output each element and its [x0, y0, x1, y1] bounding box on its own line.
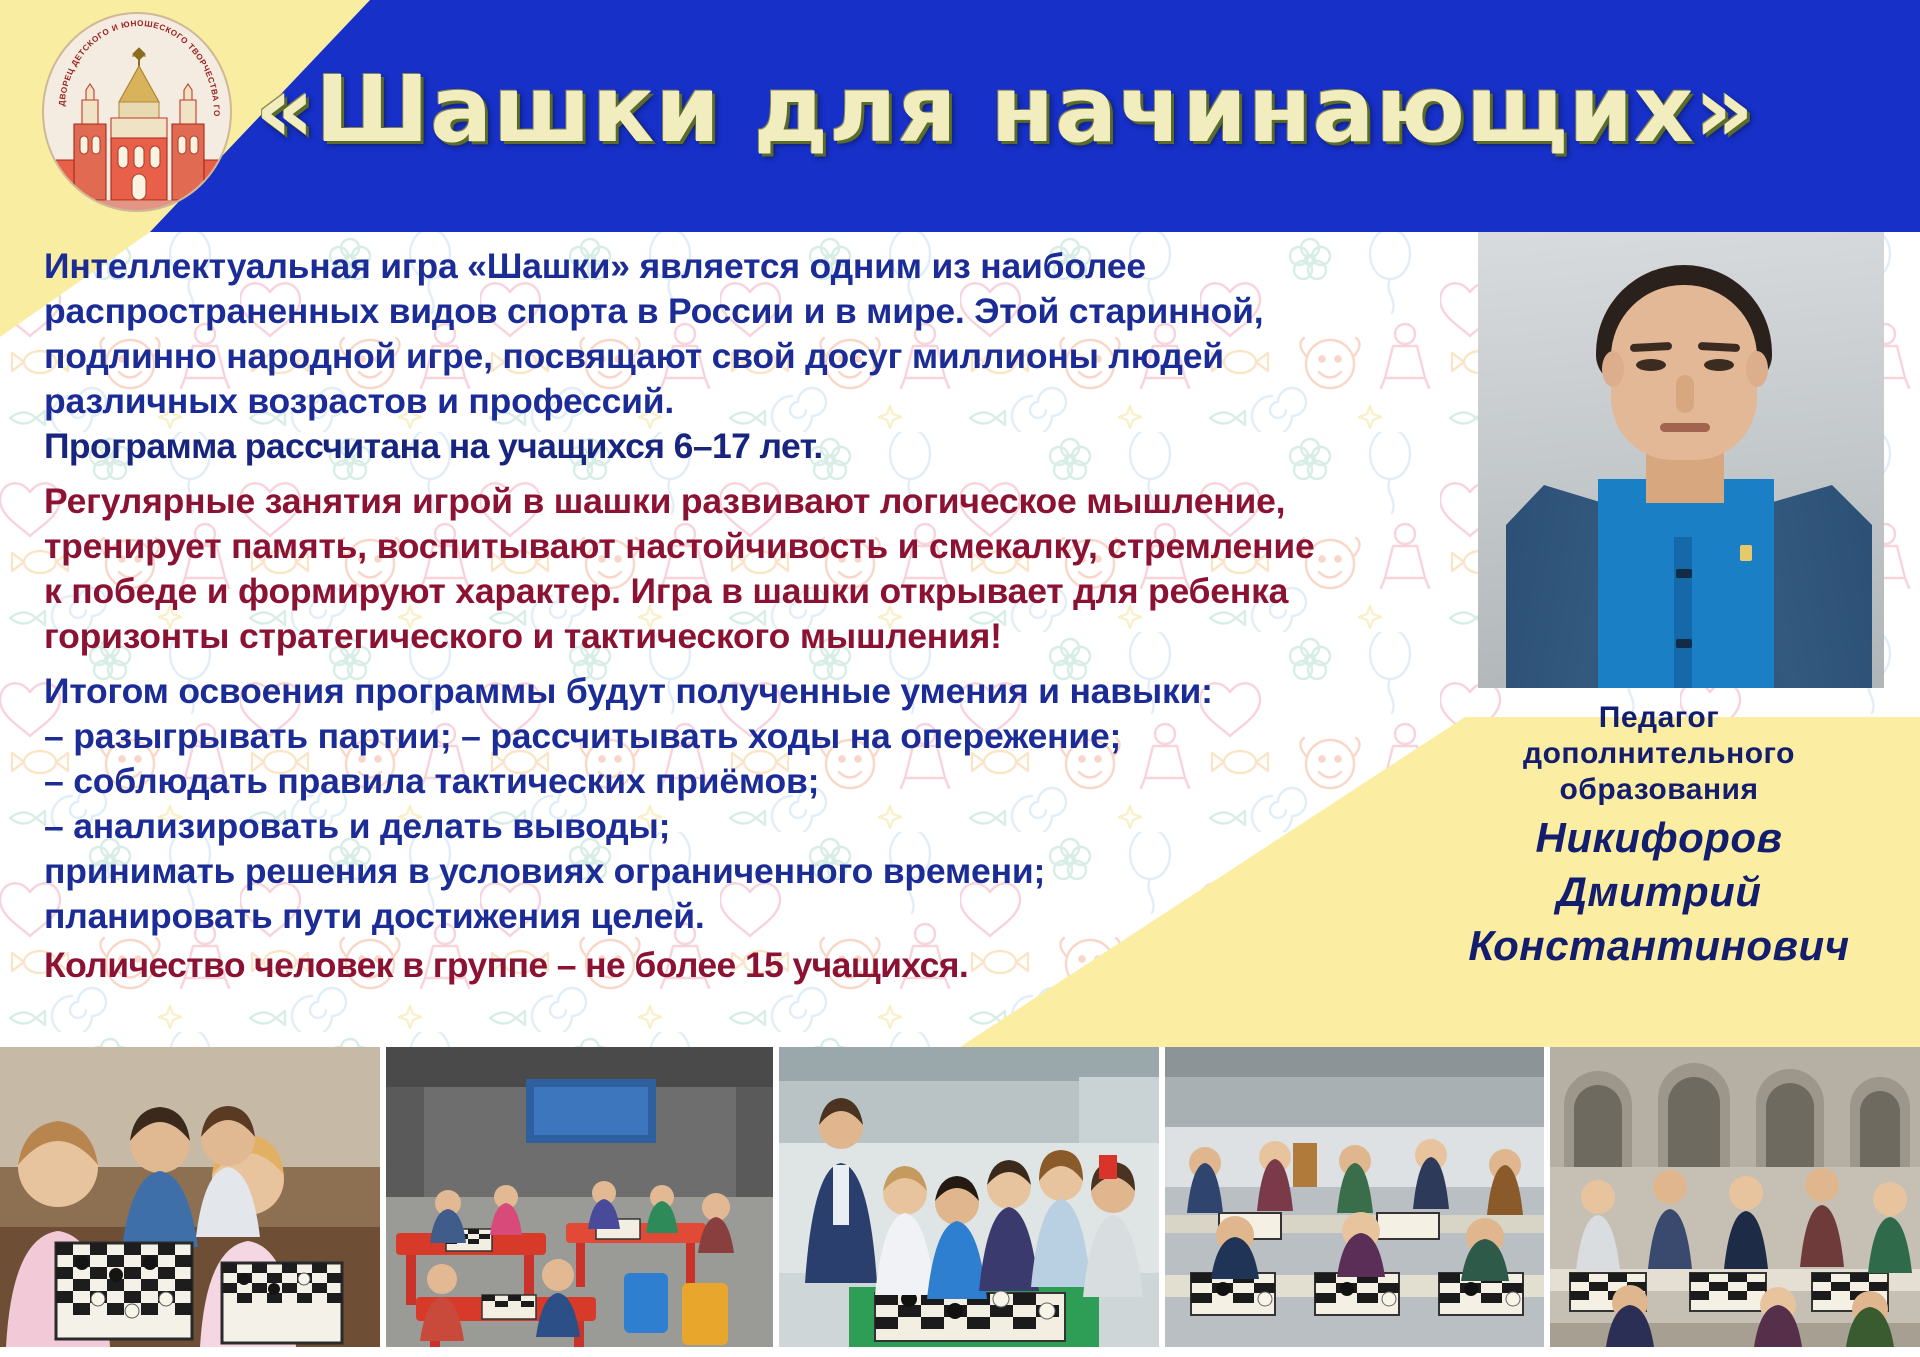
benefits-line-4: горизонты стратегического и тактического…	[44, 614, 1464, 659]
poster-body: Интеллектуальная игра «Шашки» является о…	[0, 232, 1920, 1047]
teacher-firstname: Дмитрий	[1424, 868, 1894, 916]
teacher-caption: Педагог дополнительного образования Ники…	[1424, 700, 1894, 970]
teacher-role-line-2: дополнительного образования	[1424, 736, 1894, 808]
logo-oval: ДВОРЕЦ ДЕТСКОГО И ЮНОШЕСКОГО ТВОРЧЕСТВА …	[42, 12, 232, 212]
photo-tournament-arched-hall	[1550, 1047, 1920, 1347]
teacher-role-line-1: Педагог	[1424, 700, 1894, 736]
outcome-item-3: – анализировать и делать выводы;	[44, 804, 1464, 849]
photo-strip	[0, 1047, 1920, 1347]
intro-line-1: Интеллектуальная игра «Шашки» является о…	[44, 244, 1464, 289]
photo-tournament-hall-red-tables	[386, 1047, 774, 1347]
outcomes-intro: Итогом освоения программы будут полученн…	[44, 669, 1464, 714]
organization-logo: ДВОРЕЦ ДЕТСКОГО И ЮНОШЕСКОГО ТВОРЧЕСТВА …	[42, 12, 232, 212]
outcome-item-2: – соблюдать правила тактических приёмов;	[44, 759, 1464, 804]
outcome-item-1: – разыгрывать партии; – рассчитывать ход…	[44, 714, 1464, 759]
benefits-line-2: тренирует память, воспитывают настойчиво…	[44, 524, 1464, 569]
bottom-white-bar	[0, 1347, 1920, 1357]
photo-competition-rows-of-players	[1165, 1047, 1545, 1347]
body-text-column: Интеллектуальная игра «Шашки» является о…	[44, 244, 1464, 988]
photo-group-with-coach	[779, 1047, 1159, 1347]
spacer	[44, 469, 1464, 479]
intro-line-3: подлинно народной игре, посвящают свой д…	[44, 334, 1464, 379]
outcome-item-4: принимать решения в условиях ограниченно…	[44, 849, 1464, 894]
benefits-line-3: к победе и формируют характер. Игра в ша…	[44, 569, 1464, 614]
spacer	[44, 659, 1464, 669]
teacher-patronymic: Константинович	[1424, 922, 1894, 970]
poster-header: ДВОРЕЦ ДЕТСКОГО И ЮНОШЕСКОГО ТВОРЧЕСТВА …	[0, 0, 1920, 232]
logo-building-icon	[56, 40, 222, 212]
outcome-item-5: планировать пути достижения целей.	[44, 894, 1464, 939]
intro-line-2: распространенных видов спорта в России и…	[44, 289, 1464, 334]
teacher-photo	[1478, 232, 1884, 688]
photo-children-playing-checkers	[0, 1047, 380, 1347]
intro-line-4: различных возрастов и профессий.	[44, 379, 1464, 424]
benefits-line-1: Регулярные занятия игрой в шашки развива…	[44, 479, 1464, 524]
teacher-surname: Никифоров	[1424, 814, 1894, 862]
group-size-highlight: Количество человек в группе – не более 1…	[44, 943, 1464, 988]
poster-title: «Шашки для начинающих»	[255, 50, 1895, 170]
age-highlight: Программа рассчитана на учащихся 6–17 ле…	[44, 424, 1464, 469]
